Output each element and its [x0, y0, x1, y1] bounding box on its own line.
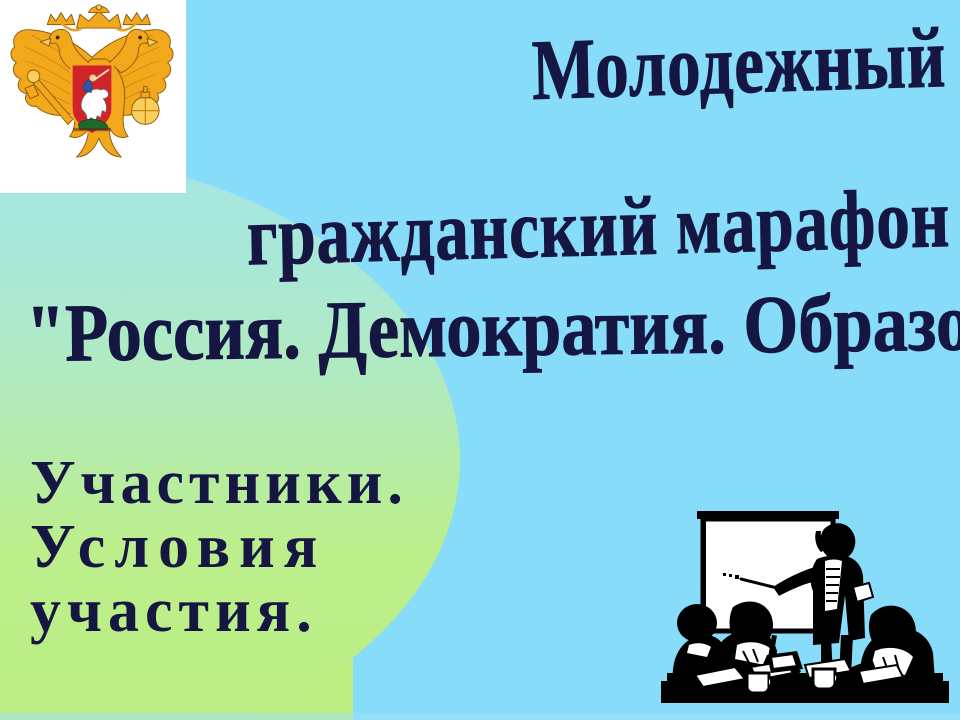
presentation-clipart: [655, 495, 955, 715]
caption-line-1: Участники.: [30, 452, 590, 516]
caption-line-2: Условия: [30, 516, 590, 580]
coat-of-arms-card: [0, 0, 186, 193]
caption-line-3: участия.: [30, 580, 590, 644]
meeting-illustration-icon: [655, 495, 955, 715]
caption-block: Участники. Условия участия.: [30, 452, 590, 644]
presentation-slide: Молодежный гражданский марафон "Россия. …: [0, 0, 960, 720]
coat-of-arms-icon: [6, 4, 178, 188]
